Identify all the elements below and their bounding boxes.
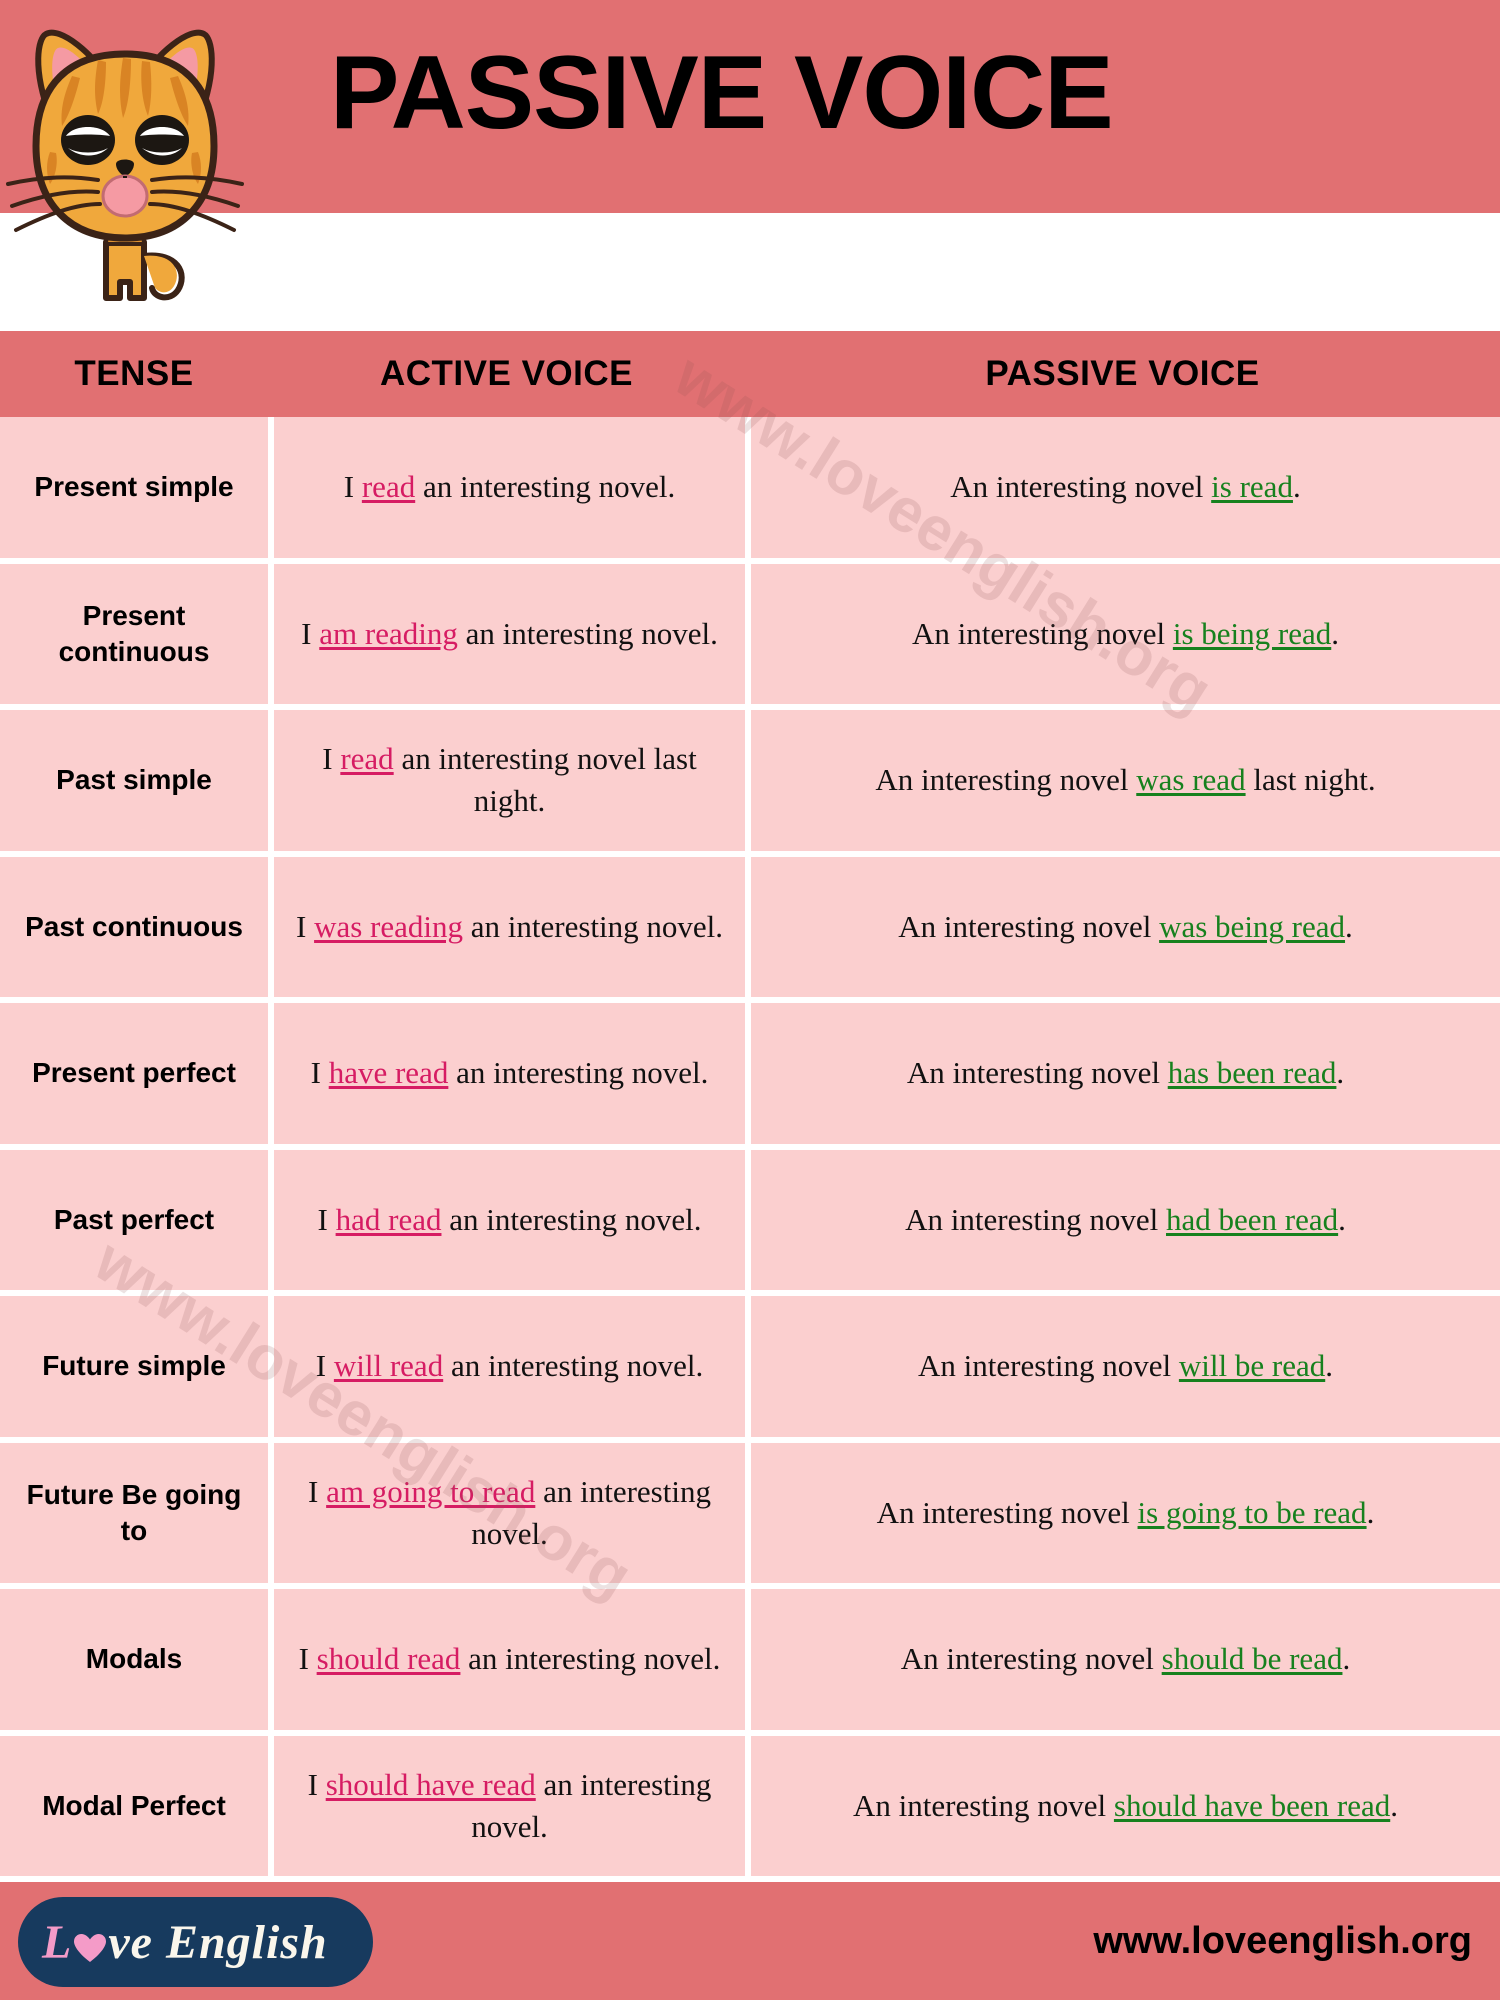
active-verb-phrase: had read [336,1202,442,1237]
active-verb-phrase: am reading [319,616,458,651]
active-prefix: I [311,1055,329,1090]
cell-passive-voice: An interesting novel should be read. [751,1589,1500,1730]
cat-mascot-icon [2,6,248,311]
cell-passive-voice: An interesting novel should have been re… [751,1736,1500,1877]
passive-prefix: An interesting novel [853,1788,1114,1823]
active-suffix: an interesting novel. [415,469,675,504]
table-body: Present simpleI read an interesting nove… [0,417,1500,1882]
active-suffix: an interesting novel. [443,1348,703,1383]
passive-prefix: An interesting novel [905,1202,1166,1237]
active-verb-phrase: am going to read [326,1474,535,1509]
passive-prefix: An interesting novel [877,1495,1138,1530]
cell-tense: Modals [0,1589,268,1730]
table-row: Past continuousI was reading an interest… [0,857,1500,998]
brand-logo[interactable]: Lve English [42,1908,362,1978]
cell-tense: Present perfect [0,1003,268,1144]
active-suffix: an interesting novel. [448,1055,708,1090]
active-prefix: I [344,469,362,504]
cell-active-voice: I was reading an interesting novel. [274,857,745,998]
cell-active-voice: I am reading an interesting novel. [274,564,745,705]
cell-active-voice: I read an interesting novel last night. [274,710,745,851]
table-row: Future simpleI will read an interesting … [0,1296,1500,1437]
active-suffix: an interesting novel last night. [394,741,697,818]
heart-icon [73,1933,107,1963]
cell-passive-voice: An interesting novel had been read. [751,1150,1500,1291]
cell-passive-voice: An interesting novel is being read. [751,564,1500,705]
passive-prefix: An interesting novel [918,1348,1179,1383]
active-suffix: an interesting novel. [460,1641,720,1676]
passive-suffix: . [1390,1788,1398,1823]
cell-active-voice: I have read an interesting novel. [274,1003,745,1144]
passive-suffix: . [1293,469,1301,504]
active-prefix: I [316,1348,334,1383]
active-suffix: an interesting novel. [463,909,723,944]
infographic-page: PASSIVE VOICE [0,0,1500,2000]
active-suffix: an interesting novel. [458,616,718,651]
cell-active-voice: I should read an interesting novel. [274,1589,745,1730]
active-prefix: I [308,1767,326,1802]
cell-tense: Future Be going to [0,1443,268,1584]
cell-tense: Modal Perfect [0,1736,268,1877]
active-prefix: I [308,1474,326,1509]
cell-tense: Present continuous [0,564,268,705]
active-suffix: an interesting novel. [441,1202,701,1237]
column-header-active-voice: ACTIVE VOICE [268,354,745,394]
table-row: Present simpleI read an interesting nove… [0,417,1500,558]
passive-suffix: . [1331,616,1339,651]
active-prefix: I [322,741,340,776]
active-verb-phrase: should read [317,1641,461,1676]
cell-tense: Past continuous [0,857,268,998]
passive-verb-phrase: is going to be read [1138,1495,1367,1530]
passive-suffix: . [1325,1348,1333,1383]
cell-passive-voice: An interesting novel was being read. [751,857,1500,998]
cell-active-voice: I should have read an interesting novel. [274,1736,745,1877]
cell-passive-voice: An interesting novel has been read. [751,1003,1500,1144]
cell-passive-voice: An interesting novel will be read. [751,1296,1500,1437]
active-verb-phrase: should have read [326,1767,536,1802]
cell-active-voice: I read an interesting novel. [274,417,745,558]
active-verb-phrase: read [340,741,393,776]
table-row: Present continuousI am reading an intere… [0,564,1500,705]
column-header-passive-voice: PASSIVE VOICE [745,354,1500,394]
passive-suffix: . [1345,909,1353,944]
active-verb-phrase: have read [329,1055,449,1090]
passive-verb-phrase: should be read [1162,1641,1343,1676]
table-row: Future Be going toI am going to read an … [0,1443,1500,1584]
cell-tense: Past perfect [0,1150,268,1291]
passive-verb-phrase: should have been read [1114,1788,1390,1823]
passive-suffix: . [1367,1495,1375,1530]
passive-verb-phrase: will be read [1179,1348,1325,1383]
cell-tense: Future simple [0,1296,268,1437]
passive-prefix: An interesting novel [950,469,1211,504]
passive-suffix: last night. [1246,762,1376,797]
table-row: ModalsI should read an interesting novel… [0,1589,1500,1730]
active-verb-phrase: read [362,469,415,504]
passive-verb-phrase: is being read [1173,616,1331,651]
table-row: Present perfectI have read an interestin… [0,1003,1500,1144]
passive-suffix: . [1336,1055,1344,1090]
logo-word: ve English [108,1916,327,1969]
table-row: Modal PerfectI should have read an inter… [0,1736,1500,1877]
passive-prefix: An interesting novel [875,762,1136,797]
page-title: PASSIVE VOICE [330,34,1330,152]
active-verb-phrase: was reading [314,909,463,944]
passive-suffix: . [1338,1202,1346,1237]
footer-website-url[interactable]: www.loveenglish.org [1093,1915,1472,1967]
active-prefix: I [299,1641,317,1676]
passive-verb-phrase: has been read [1168,1055,1337,1090]
passive-suffix: . [1342,1641,1350,1676]
passive-verb-phrase: was being read [1159,909,1345,944]
cell-tense: Past simple [0,710,268,851]
logo-letter-l: L [42,1916,72,1969]
cell-tense: Present simple [0,417,268,558]
active-prefix: I [318,1202,336,1237]
passive-prefix: An interesting novel [912,616,1173,651]
cell-active-voice: I am going to read an interesting novel. [274,1443,745,1584]
passive-prefix: An interesting novel [898,909,1159,944]
column-header-tense: TENSE [0,354,268,394]
passive-prefix: An interesting novel [907,1055,1168,1090]
cell-passive-voice: An interesting novel is going to be read… [751,1443,1500,1584]
cell-active-voice: I had read an interesting novel. [274,1150,745,1291]
active-prefix: I [296,909,314,944]
passive-verb-phrase: was read [1136,762,1245,797]
cell-passive-voice: An interesting novel was read last night… [751,710,1500,851]
cell-active-voice: I will read an interesting novel. [274,1296,745,1437]
passive-verb-phrase: had been read [1166,1202,1338,1237]
active-prefix: I [301,616,319,651]
table-row: Past simpleI read an interesting novel l… [0,710,1500,851]
active-verb-phrase: will read [334,1348,443,1383]
passive-verb-phrase: is read [1211,469,1293,504]
table-row: Past perfectI had read an interesting no… [0,1150,1500,1291]
cell-passive-voice: An interesting novel is read. [751,417,1500,558]
passive-prefix: An interesting novel [901,1641,1162,1676]
table-header-row: TENSE ACTIVE VOICE PASSIVE VOICE [0,331,1500,417]
